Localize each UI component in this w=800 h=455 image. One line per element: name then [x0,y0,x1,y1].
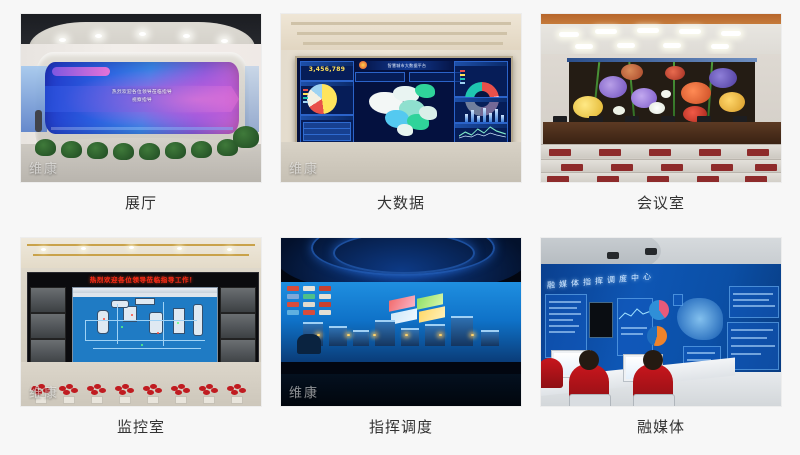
card-text-line [733,293,773,295]
map-region [397,124,413,136]
poinsettia-petal [71,388,78,393]
card-text-line [549,307,577,309]
cctv-tile [30,313,66,339]
card-text-line [549,331,575,333]
panel-bar [454,97,508,123]
dashboard-card [617,298,653,356]
bar-column [495,109,498,122]
card-text-line [687,352,715,354]
screen-logo-tag [52,67,110,76]
dashboard-title: 智慧城市大数据平台 [355,61,459,70]
poinsettia-petal [99,388,106,393]
planter-shrub [191,141,212,158]
seat [611,164,633,171]
ceiling-spotlight [221,39,228,43]
screen-tile-icon [287,286,299,291]
seat [755,164,777,171]
flower-white [613,106,625,115]
seating-row [541,144,781,158]
plant-pot [119,396,131,404]
legend-swatch [303,93,308,95]
legend-swatch [303,97,308,99]
planter-shrub [87,142,108,159]
office-chair [633,394,675,407]
seat [747,149,769,156]
poinsettia-petal [155,388,162,393]
ceiling-trim [291,22,511,25]
gallery-item-big-data[interactable]: 3,456,789 [280,13,522,223]
caption-conference-room: 会议室 [540,183,782,223]
pie-chart [307,84,337,114]
poinsettia-plant [197,382,219,400]
cctv-tile [30,287,66,313]
poinsettia-plant [57,382,79,400]
model-light [439,334,442,336]
building-model [375,320,395,346]
ceiling-light [559,32,579,37]
seat [661,164,683,171]
cctv-tile [220,287,256,313]
staff-head [579,350,599,370]
card-text-line [549,313,581,315]
ceiling-light [711,44,729,49]
ceiling-light [721,31,741,36]
caption-converged-media: 融媒体 [540,407,782,447]
plant-pot [63,396,75,404]
poinsettia-plant [225,382,247,400]
dashboard-card [545,294,587,358]
panel-titlebar [455,62,507,66]
building-model [401,328,419,346]
alarm-indicator [103,318,105,320]
screen-tile-icon [319,294,331,299]
planter-shrub [233,126,259,148]
ceiling-light [575,44,593,49]
bar-column [489,113,492,122]
screen-tile-icon [319,286,331,291]
flower-purple [709,68,737,88]
presidium-desk [543,122,781,144]
building-model [425,324,445,346]
ceiling-spotlight [59,38,66,42]
process-column [173,308,185,334]
card-text-line [731,329,773,331]
ceiling-spotlight [183,34,190,38]
card-text-line [549,319,573,321]
panel-titlebar [301,116,353,120]
planter-shrub [113,143,134,160]
poinsettia-plant [113,382,135,400]
ceiling-downlight [81,247,86,250]
room-floor [281,142,521,182]
gallery-item-conference-room[interactable]: 会议室 [540,13,782,223]
seat [547,176,569,183]
card-text-line [731,353,761,355]
building-model [481,330,499,346]
poinsettia-petal [203,390,210,395]
poinsettia-plant [169,382,191,400]
welcome-banner: 热烈欢迎各位领导莅临指导工作！ [62,275,224,286]
seat [711,164,733,171]
building-model [353,330,369,346]
map-region [419,106,437,120]
cctv-tile [220,313,256,339]
left-side-display [21,66,47,132]
process-pipe [93,348,201,349]
poinsettia-petal [211,388,218,393]
poinsettia-plant [85,382,107,400]
gallery-item-converged-media[interactable]: 融媒体指挥调度中心 [540,237,782,447]
process-pipe [117,304,118,344]
staff-member [540,358,563,388]
seat [647,176,669,183]
ceiling-trim [297,32,507,35]
building-model [451,316,473,346]
ceiling-downlight [177,247,182,250]
photo-big-data-dashboard-led-wall[interactable]: 3,456,789 [280,13,522,183]
poinsettia-petal [91,390,98,395]
window-toolbar [73,293,217,297]
planter-shrub [165,142,186,159]
video-wall-board: 热烈欢迎各位领导莅临指导工作！ [27,272,259,370]
donut-chart [649,300,669,320]
right-side-display [245,66,259,132]
poinsettia-petal [119,390,126,395]
plant-pot [175,396,187,404]
ceiling-light [663,43,681,48]
card-text-line [549,301,581,303]
seating-row [541,159,781,173]
planter-shrub [139,143,160,160]
ceiling-panel [541,24,781,58]
ceiling-spotlight [139,32,146,36]
caption-monitoring-room: 监控室 [20,407,262,447]
plant-pot [91,396,103,404]
card-text-line [621,327,647,329]
poinsettia-petal [231,390,238,395]
ceiling-downlight [227,248,232,251]
map-region [415,84,435,98]
model-light [471,334,474,336]
bar-column [477,116,480,122]
legend-swatch [460,74,465,76]
scada-process-diagram [72,287,218,367]
camera-icon [645,248,657,255]
poinsettia-petal [43,388,50,393]
line-chart [618,303,652,323]
seat [745,176,767,183]
card-text-line [621,333,643,335]
status-indicator [121,326,123,328]
line-chart [459,124,506,140]
alarm-indicator [157,332,159,334]
flower-white [649,102,665,114]
video-wall-board: 3,456,789 [295,56,513,148]
seat [549,149,571,156]
caption-command-dispatch: 指挥调度 [280,407,522,447]
person-silhouette [297,334,321,354]
legend-swatch [460,82,465,84]
kpi-value: 3,456,789 [303,66,351,73]
screen-tile-icon [287,294,299,299]
seat [699,149,721,156]
staff-head [643,350,663,370]
planter-shrub [61,141,82,158]
process-vessel [97,310,109,334]
gallery-item-monitoring-room[interactable]: 热烈欢迎各位领导莅临指导工作！ [20,237,262,447]
building-model [329,326,347,346]
model-light [373,334,376,336]
process-pipe [85,320,197,321]
process-unit [111,300,129,308]
screen-tile-icon [319,302,331,307]
photo-conference-room-led-screen[interactable] [540,13,782,183]
poinsettia-plant [141,382,163,400]
panel-titlebar [455,98,507,102]
bar-column [501,115,504,122]
screen-tile-icon [303,286,315,291]
card-text-line [733,305,775,307]
screen-welcome-line2: 视察指导 [132,98,152,103]
flower-orange [681,82,711,104]
process-pipe [85,320,86,340]
plant-pot [35,396,47,404]
plant-pot [231,396,243,404]
plant-pot [203,396,215,404]
photo-exhibition-hall-curved-led-wall[interactable]: 热烈欢迎各位领导莅临指导 视察指导 维康 [20,13,262,183]
ceiling-trim [303,42,503,45]
bar-column [471,110,474,122]
process-unit [135,298,155,305]
ceiling-light [637,28,659,33]
status-indicator [141,344,143,346]
card-text-line [731,337,767,339]
china-map [363,82,453,140]
ceiling-spotlight [95,34,102,38]
ceiling-downlight [41,248,46,251]
bar-column [465,114,468,122]
process-pipe [163,302,164,346]
floor-dark [281,374,521,406]
gallery-item-command-dispatch[interactable]: 维康 指挥调度 [280,237,522,447]
poinsettia-petal [239,388,246,393]
ceiling-downlight [129,246,134,249]
camera-icon [607,252,619,259]
card-text-line [733,299,769,301]
photo-command-dispatch-curved-led[interactable]: 维康 [280,237,522,407]
photo-converged-media-centre-led-wall[interactable]: 融媒体指挥调度中心 [540,237,782,407]
screen-welcome-text: 热烈欢迎各位领导莅临指导 视察指导 [45,89,239,104]
flower-yellow [573,96,603,118]
screen-tile-icon [303,294,315,299]
monitor-tile [589,302,613,338]
ceiling-gold-trim [27,244,255,246]
gallery-row-1: 热烈欢迎各位领导莅临指导 视察指导 维康 展厅 [20,13,780,223]
model-light [347,334,350,336]
poinsettia-petal [35,390,42,395]
caption-exhibition-hall: 展厅 [20,183,262,223]
map-label [673,294,683,306]
seat [599,149,621,156]
alarm-indicator [131,314,133,316]
screen-bottom-strip [51,127,233,130]
seat [697,176,719,183]
visitor-silhouette [35,110,42,132]
ceiling-light [617,43,635,48]
plant-pot [147,396,159,404]
flower-orange [621,64,643,80]
table-row [303,134,351,141]
poinsettia-petal [147,390,154,395]
poinsettia-petal [183,388,190,393]
flower-red [665,66,685,80]
seat [649,149,671,156]
process-tank [149,312,163,334]
poinsettia-plant [29,382,51,400]
caption-big-data: 大数据 [280,183,522,223]
legend-swatch [303,89,308,91]
wall-title: 融媒体指挥调度中心 [547,264,757,293]
poinsettia-petal [63,390,70,395]
seat [561,164,583,171]
office-chair [569,394,611,407]
planter-shrub [35,139,56,156]
gallery-item-exhibition-hall[interactable]: 热烈欢迎各位领导莅临指导 视察指导 维康 展厅 [20,13,262,223]
photo-monitoring-room-video-wall[interactable]: 热烈欢迎各位领导莅临指导工作！ [20,237,262,407]
status-indicator [177,322,179,324]
seating-row [541,172,781,183]
legend-swatch [303,101,308,103]
poinsettia-petal [175,390,182,395]
ceiling-light [595,29,617,34]
poinsettia-petal [127,388,134,393]
card-text-line [731,345,775,347]
image-gallery: 热烈欢迎各位领导莅临指导 视察指导 维康 展厅 [0,0,800,455]
flower-purple [599,76,627,98]
card-text-line [549,325,579,327]
ceiling-gold-trim [33,254,249,256]
process-pipe [85,340,205,341]
legend-swatch [460,70,465,72]
bar-column [483,108,486,122]
led-screen-flowers [569,62,755,124]
seat [597,176,619,183]
screen-tile-icon [303,302,315,307]
gallery-row-2: 热烈欢迎各位领导莅临指导工作！ [20,237,780,447]
flower-yellow [719,92,745,112]
china-map [677,298,723,340]
ceiling-light [679,29,701,34]
legend-swatch [460,78,465,80]
flower-white [661,90,671,98]
notice-card [729,286,779,318]
led-screen-content: 热烈欢迎各位领导莅临指导 视察指导 [45,62,239,134]
screen-welcome-line1: 热烈欢迎各位领导莅临指导 [112,90,172,95]
panel-counter [355,72,405,82]
model-light [405,334,408,336]
screen-tile-icon [287,302,299,307]
